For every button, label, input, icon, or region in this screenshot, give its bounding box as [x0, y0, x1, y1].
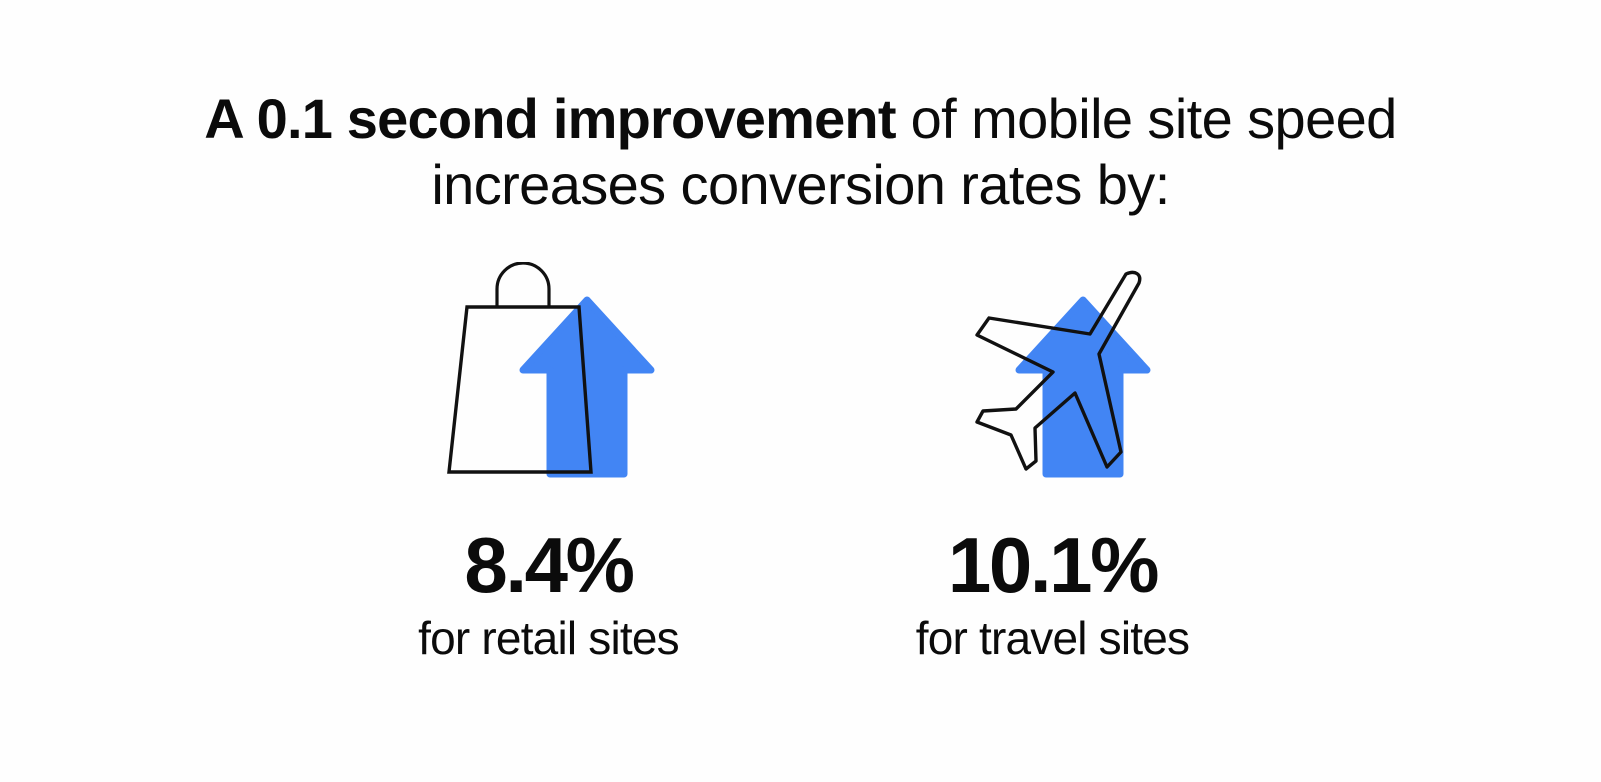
stats-row: 8.4% for retail sites 10.1% for travel s…: [0, 262, 1601, 666]
page-title: A 0.1 second improvement of mobile site …: [0, 86, 1601, 218]
up-arrow-icon: [523, 300, 651, 474]
airplane-with-up-arrow-icon: [923, 262, 1183, 494]
infographic-root: A 0.1 second improvement of mobile site …: [0, 0, 1601, 782]
stat-travel: 10.1% for travel sites: [888, 262, 1218, 666]
shopping-bag-with-up-arrow-icon: [419, 262, 679, 494]
headline-line-1-rest: of mobile site speed: [896, 87, 1397, 150]
bag-handle-icon: [497, 263, 549, 307]
headline-line-2: increases conversion rates by:: [0, 152, 1601, 218]
stat-label-travel: for travel sites: [916, 610, 1190, 666]
headline-emphasis: A 0.1 second improvement: [204, 87, 895, 150]
stat-label-retail: for retail sites: [418, 610, 679, 666]
stat-retail: 8.4% for retail sites: [384, 262, 714, 666]
stat-value-travel: 10.1%: [948, 522, 1157, 608]
headline-line-1: A 0.1 second improvement of mobile site …: [0, 86, 1601, 152]
stat-value-retail: 8.4%: [464, 522, 632, 608]
